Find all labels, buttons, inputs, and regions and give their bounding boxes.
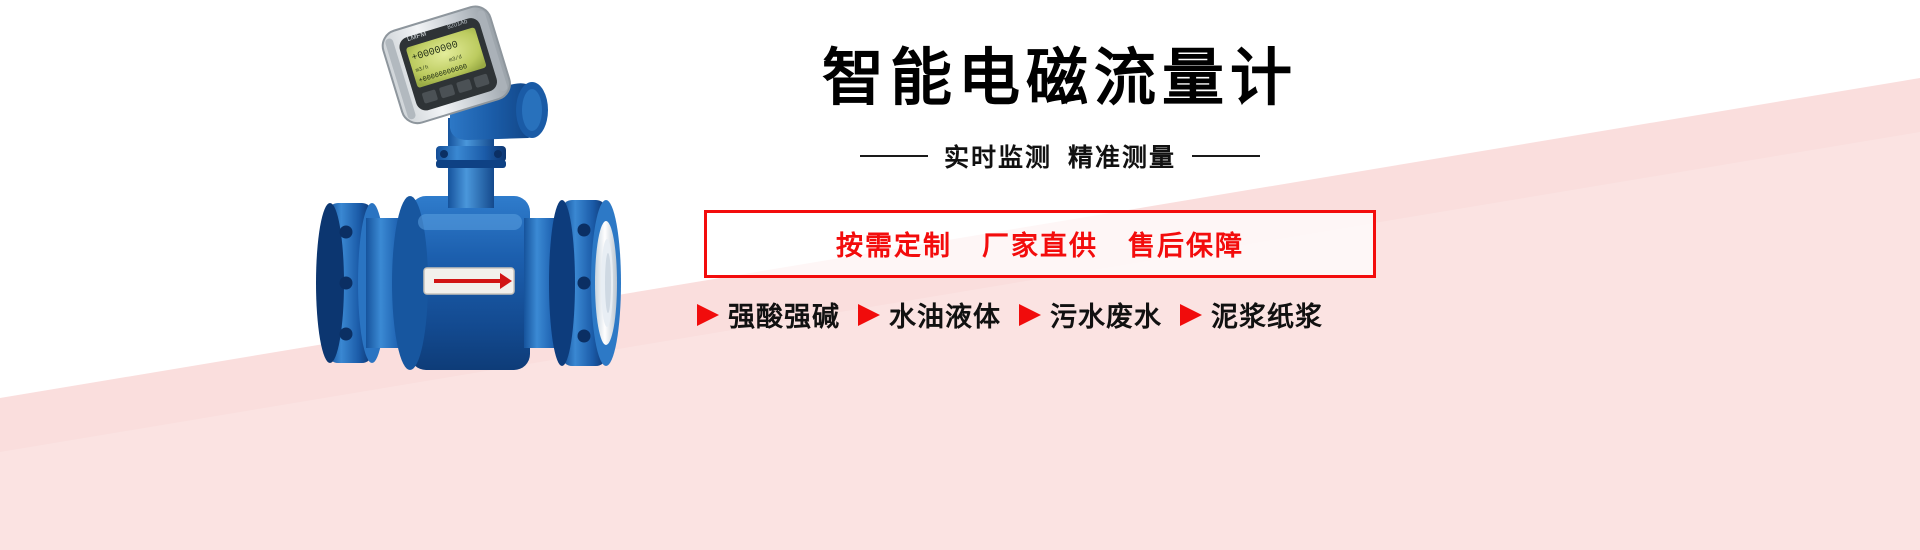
promo-banner: LMFM 8201Ab +0000000 m3/h m3/d +00000000… [0, 0, 1920, 550]
right-flange [549, 200, 621, 366]
feature-list: 强酸强碱 水油液体 污水废水 泥浆纸浆 [610, 295, 1410, 334]
flowmeter-body [316, 196, 621, 370]
page-title: 智能电磁流量计 [670, 45, 1450, 113]
arrow-right-icon [1019, 304, 1041, 326]
subtitle-row: 实时监测 精准测量 [670, 138, 1450, 174]
transmitter-head: LMFM 8201Ab +0000000 m3/h m3/d +00000000… [379, 3, 548, 140]
subtitle-left: 实时监测 [944, 138, 1052, 174]
guarantee-item-1: 厂家直供 [982, 231, 1098, 261]
guarantee-text-line: 按需定制厂家直供售后保障 [836, 231, 1244, 261]
flow-direction-arrow-plate [424, 268, 514, 294]
product-image-flowmeter: LMFM 8201Ab +0000000 m3/h m3/d +00000000… [300, 0, 720, 480]
guarantee-item-2: 售后保障 [1128, 231, 1244, 261]
banner-content: 智能电磁流量计 实时监测 精准测量 按需定制厂家直供售后保障 强酸强碱 水油液体 [700, 0, 1420, 550]
feature-item-0: 强酸强碱 [697, 295, 840, 334]
feature-item-3: 泥浆纸浆 [1180, 295, 1323, 334]
arrow-right-icon [858, 304, 880, 326]
subtitle-rule-right [1192, 155, 1260, 157]
feature-label-3: 泥浆纸浆 [1211, 295, 1323, 334]
subtitle-rule-left [860, 155, 928, 157]
arrow-right-icon [1180, 304, 1202, 326]
guarantee-box: 按需定制厂家直供售后保障 [704, 210, 1376, 278]
feature-label-2: 污水废水 [1050, 295, 1162, 334]
guarantee-item-0: 按需定制 [836, 231, 952, 261]
feature-label-0: 强酸强碱 [728, 295, 840, 334]
arrow-right-icon [697, 304, 719, 326]
subtitle-right: 精准测量 [1068, 138, 1176, 174]
feature-label-1: 水油液体 [889, 295, 1001, 334]
feature-item-1: 水油液体 [858, 295, 1001, 334]
feature-item-2: 污水废水 [1019, 295, 1162, 334]
